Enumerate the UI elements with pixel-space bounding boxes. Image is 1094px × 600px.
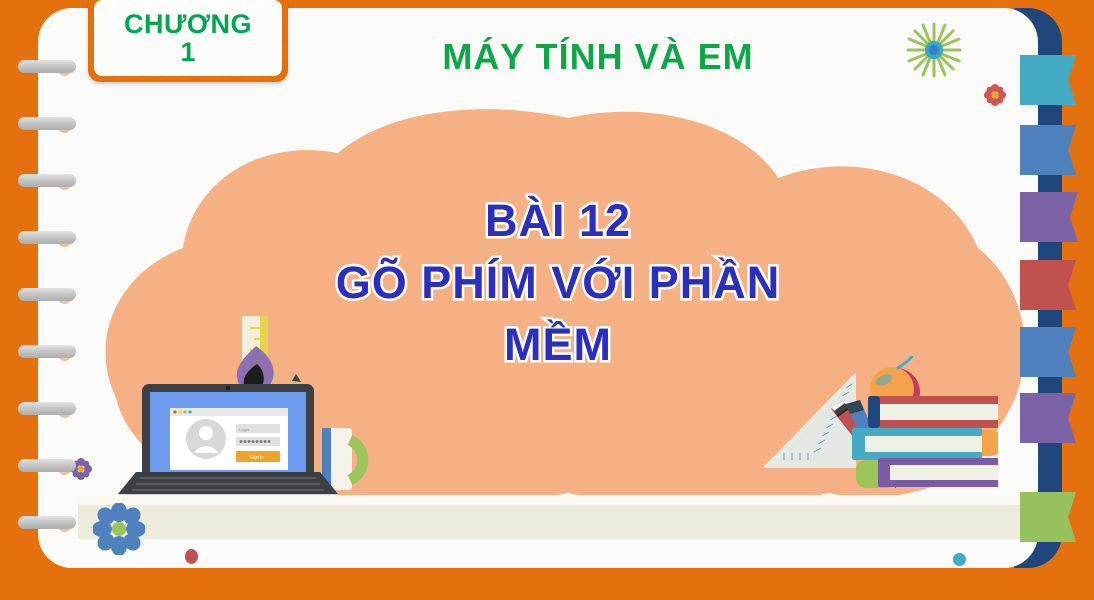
stationery-illustration — [748, 356, 998, 508]
dot-teal — [953, 553, 966, 566]
spiral-ring-bar — [18, 516, 76, 529]
spiral-ring — [18, 402, 76, 415]
laptop-keyboard — [118, 472, 338, 494]
ribbon-green[interactable] — [1020, 492, 1076, 542]
spiral-ring-bar — [18, 402, 76, 415]
chapter-badge: CHƯƠNG 1 — [88, 0, 288, 82]
laptop-illustration: Login Sign in — [100, 308, 380, 518]
desk-surface — [78, 505, 1038, 539]
slide-heading: MÁY TÍNH VÀ EM — [368, 36, 828, 78]
spiral-ring-bar — [18, 117, 76, 130]
chapter-badge-inner: CHƯƠNG 1 — [94, 0, 282, 76]
slide-canvas: MÁY TÍNH VÀ EM BÀI 12 GÕ PHÍM VỚI PHẦN M… — [0, 0, 1094, 600]
spiral-ring-bar — [18, 345, 76, 358]
ribbon-teal[interactable] — [1020, 55, 1076, 105]
chapter-number: 1 — [180, 38, 195, 66]
mug — [322, 428, 363, 490]
dot-red — [185, 549, 198, 564]
spiral-ring — [18, 231, 76, 244]
svg-text:Login: Login — [239, 427, 249, 432]
paper-card: MÁY TÍNH VÀ EM BÀI 12 GÕ PHÍM VỚI PHẦN M… — [38, 8, 1038, 568]
chapter-label: CHƯƠNG — [124, 10, 252, 38]
spiral-ring-bar — [18, 288, 76, 301]
book-red — [868, 396, 998, 428]
login-window: Login Sign in — [170, 408, 288, 470]
book-purple — [856, 458, 998, 488]
book-cyan — [852, 428, 998, 460]
ribbon-blue-1[interactable] — [1020, 125, 1076, 175]
spiral-ring — [18, 288, 76, 301]
spiral-ring-bar — [18, 174, 76, 187]
ribbon-purple-2[interactable] — [1020, 393, 1076, 443]
spiral-ring — [18, 345, 76, 358]
small-leaf — [292, 374, 301, 382]
ribbon-red[interactable] — [1020, 260, 1076, 310]
ribbon-purple-1[interactable] — [1020, 192, 1078, 242]
spiral-ring — [18, 516, 76, 529]
spiral-ring — [18, 174, 76, 187]
flower-green-starburst-icon — [906, 22, 962, 78]
spiral-ring — [18, 60, 76, 73]
spiral-ring-bar — [18, 459, 76, 472]
svg-text:Sign in: Sign in — [250, 455, 264, 460]
lesson-title-line1: BÀI 12 — [288, 190, 828, 252]
ribbon-blue-2[interactable] — [1020, 327, 1076, 377]
spiral-ring — [18, 117, 76, 130]
laptop-camera — [226, 386, 230, 390]
spiral-ring-bar — [18, 231, 76, 244]
spiral-ring-bar — [18, 60, 76, 73]
spiral-ring — [18, 459, 76, 472]
flower-blue-icon — [93, 503, 145, 555]
flower-red-small-icon — [984, 84, 1006, 106]
